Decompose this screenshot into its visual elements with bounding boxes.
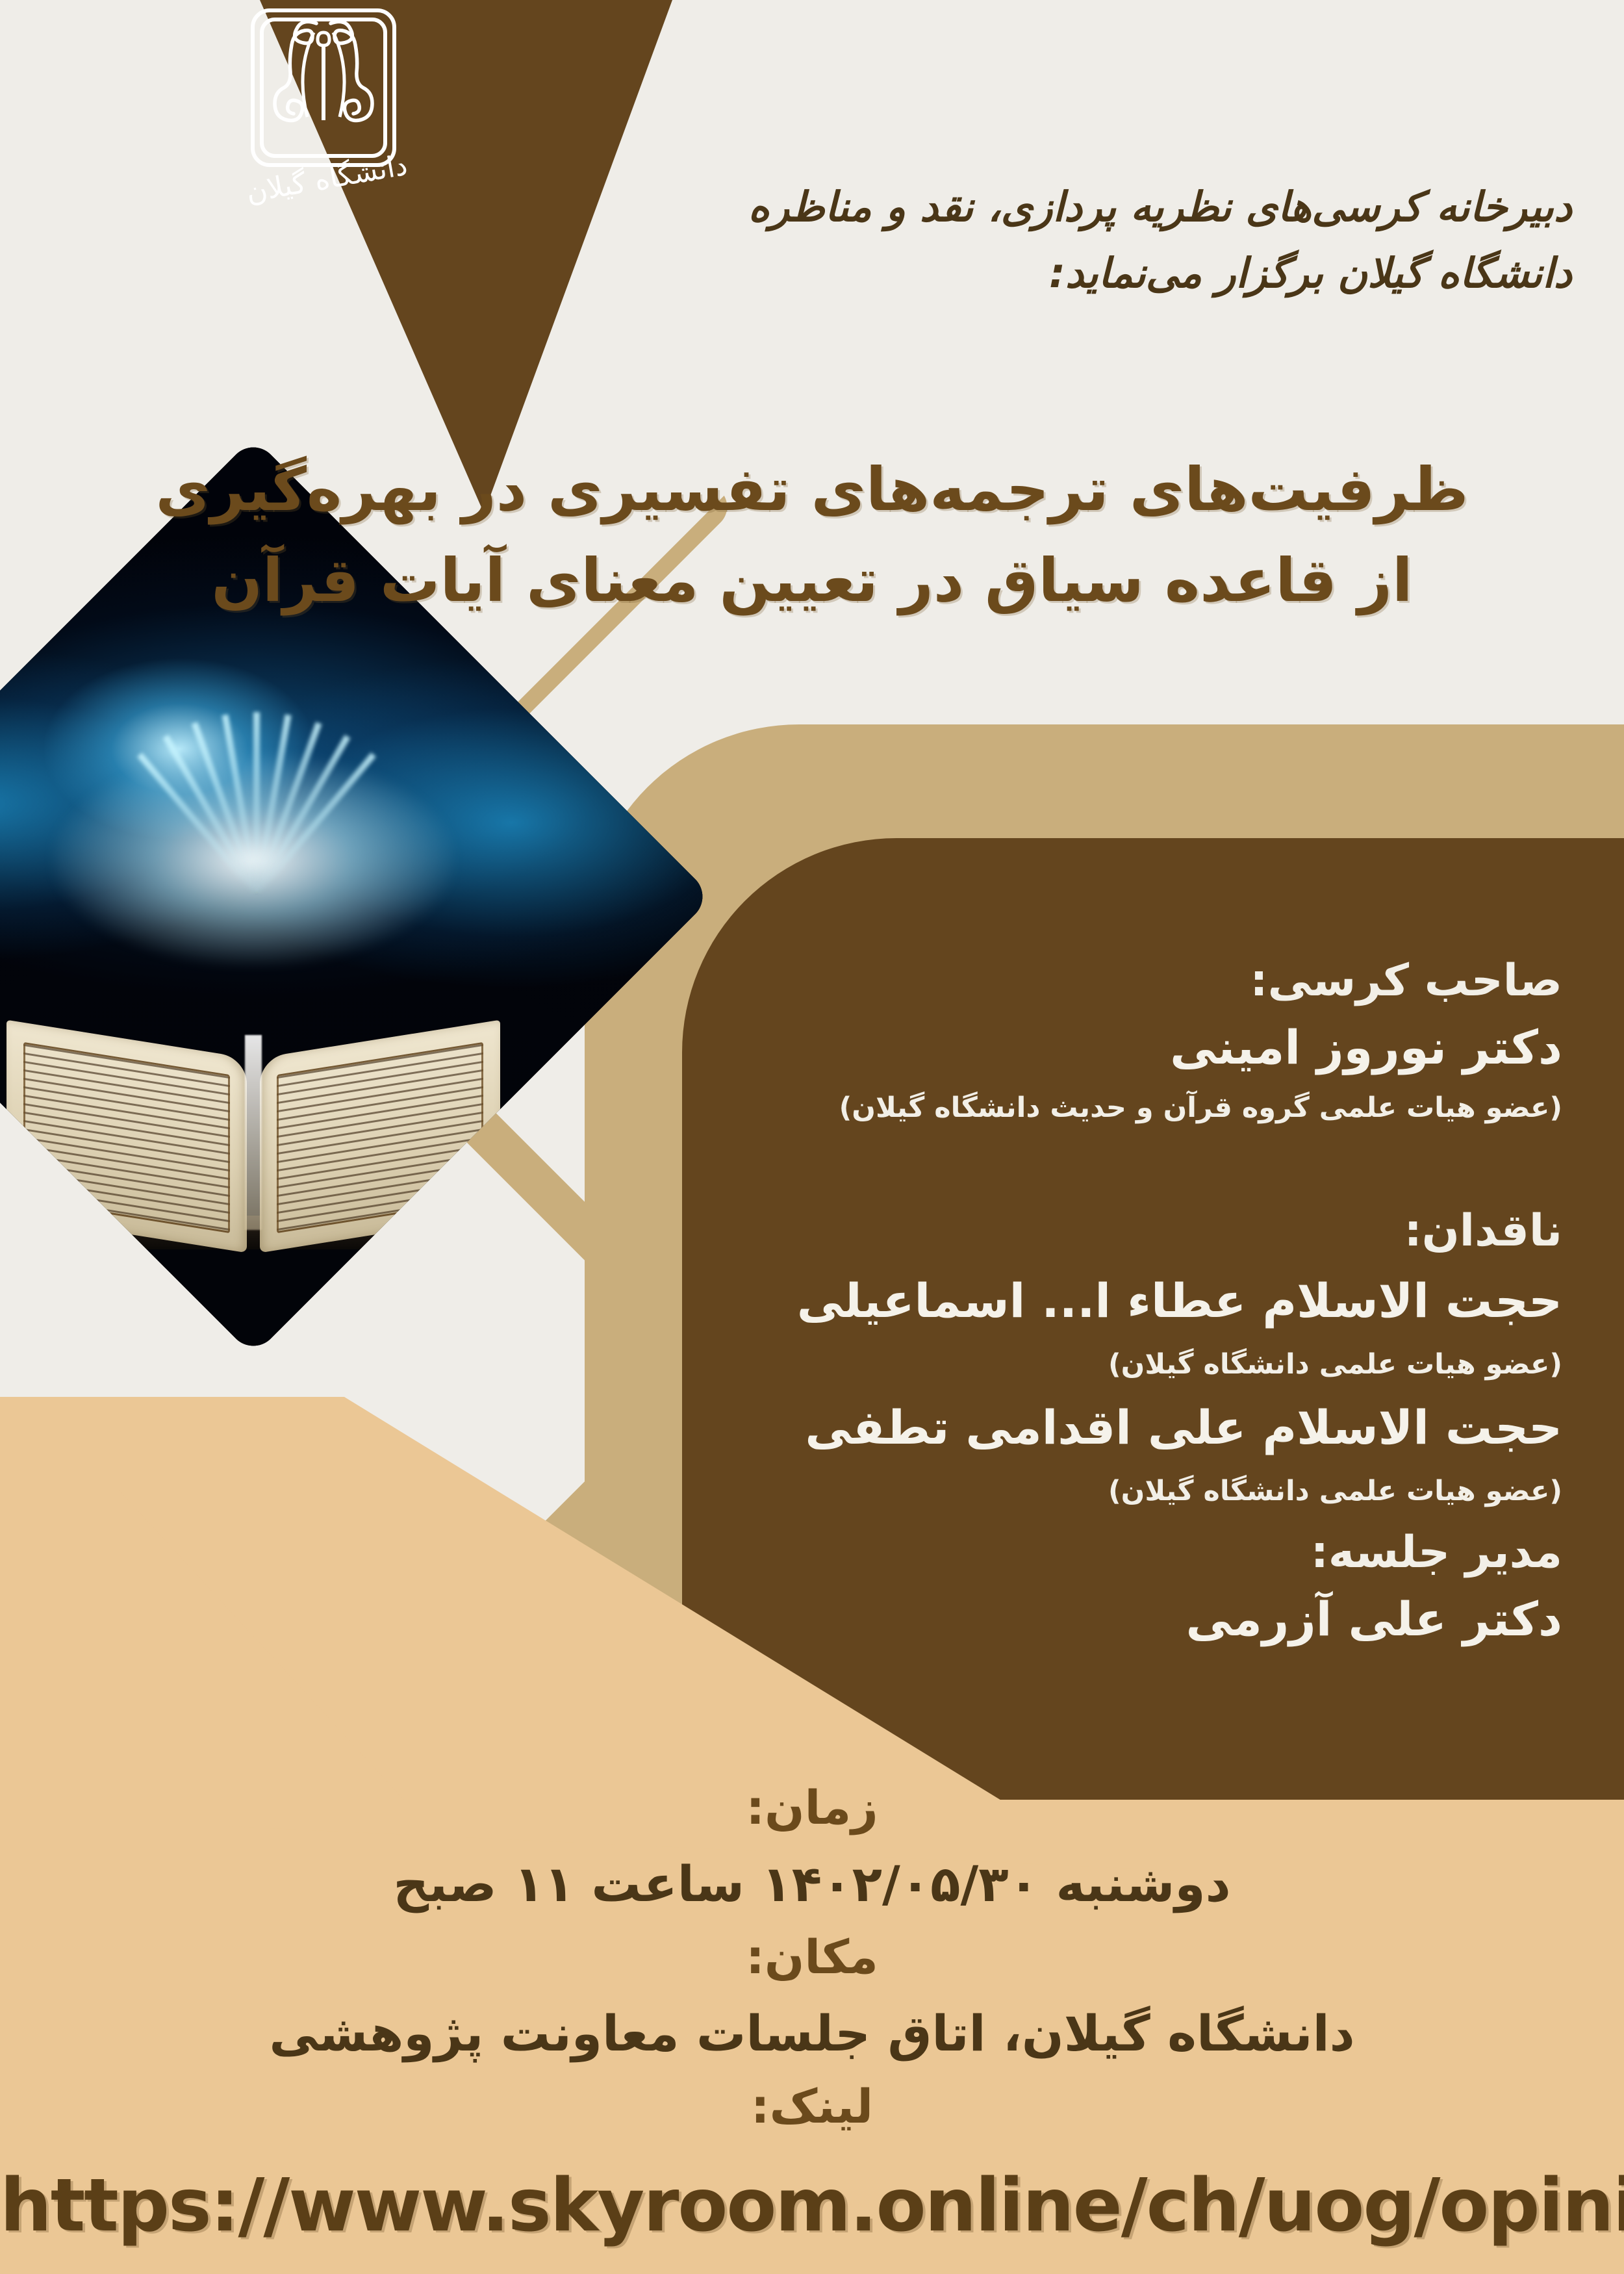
chair-name: دکتر نوروز امینی (1170, 1020, 1562, 1075)
time-value: دوشنبه ۱۴۰۲/۰۵/۳۰ ساعت ۱۱ صبح (0, 1855, 1624, 1913)
header-line-2: دانشگاه گیلان برگزار می‌نماید: (1049, 242, 1572, 305)
chair-label: صاحب کرسی: (1250, 955, 1562, 1006)
critics-label: ناقدان: (1404, 1205, 1562, 1257)
link-label: لینک: (0, 2079, 1624, 2134)
poster-canvas: دانشگاه گیلان دبیرخانه کرسی‌های نظریه پر… (0, 0, 1624, 2274)
moderator-name: دکتر علی آزرمی (1186, 1592, 1562, 1646)
page-title-line-2: از قاعده سیاق در تعیین معنای آیات قرآن (0, 546, 1624, 615)
place-value: دانشگاه گیلان، اتاق جلسات معاونت پژوهشی (0, 2004, 1624, 2062)
place-label: مکان: (0, 1930, 1624, 1984)
critic-1-name: حجت الاسلام عطاء ا... اسماعیلی (797, 1273, 1562, 1328)
critic-2-affiliation: (عضو هیات علمی دانشگاه گیلان) (1108, 1475, 1562, 1507)
moderator-label: مدیر جلسه: (1311, 1527, 1562, 1578)
gilan-university-emblem-icon (249, 6, 398, 169)
meeting-link[interactable]: https://www.skyroom.online/ch/uog/opinio… (0, 2164, 1624, 2248)
page-title-line-1: ظرفیت‌های ترجمه‌های تفسیری در بهره‌گیری (0, 455, 1624, 524)
header-line-1: دبیرخانه کرسی‌های نظریه پردازی، نقد و من… (748, 175, 1572, 239)
critic-2-name: حجت الاسلام علی اقدامی تطفی (805, 1400, 1562, 1455)
time-label: زمان: (0, 1780, 1624, 1835)
chair-affiliation: (عضو هیات علمی گروه قرآن و حدیث دانشگاه … (839, 1092, 1562, 1124)
critic-1-affiliation: (عضو هیات علمی دانشگاه گیلان) (1108, 1348, 1562, 1381)
